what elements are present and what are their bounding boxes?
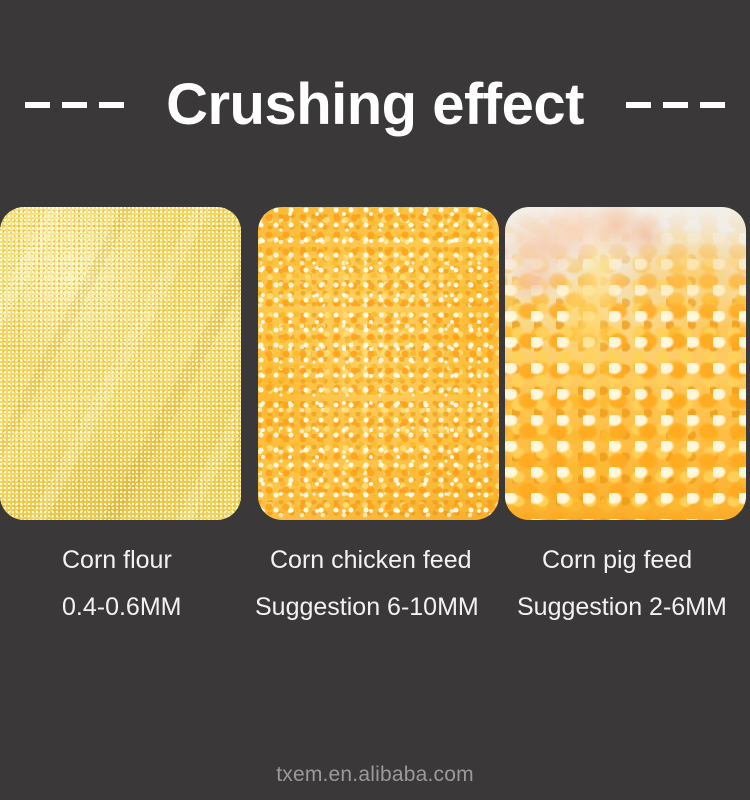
corn-flour-photo: [0, 207, 241, 520]
photo-layer-specks: [258, 207, 499, 520]
caption-spec: 0.4-0.6MM: [62, 595, 181, 620]
caption-title: Corn flour: [62, 548, 181, 573]
dash-icon: [700, 102, 725, 108]
caption-spec: Suggestion 6-10MM: [255, 595, 479, 620]
title-dashes-right: [626, 102, 725, 108]
caption-row: Corn flour 0.4-0.6MM Corn chicken feed S…: [0, 548, 750, 648]
product-image-row: [0, 207, 750, 520]
corn-chicken-feed-photo: [258, 207, 499, 520]
dash-icon: [62, 102, 87, 108]
page-title: Crushing effect: [166, 76, 584, 134]
dash-icon: [663, 102, 688, 108]
dash-icon: [626, 102, 651, 108]
caption-corn-chicken-feed: Corn chicken feed Suggestion 6-10MM: [270, 548, 479, 620]
photo-layer-grain: [0, 207, 241, 520]
title-dashes-left: [25, 102, 124, 108]
corn-pig-feed-photo: [505, 207, 746, 520]
caption-title: Corn chicken feed: [270, 548, 479, 573]
page-header: Crushing effect: [0, 60, 750, 150]
caption-corn-pig-feed: Corn pig feed Suggestion 2-6MM: [542, 548, 727, 620]
dash-icon: [25, 102, 50, 108]
dash-icon: [99, 102, 124, 108]
caption-spec: Suggestion 2-6MM: [517, 595, 727, 620]
caption-corn-flour: Corn flour 0.4-0.6MM: [62, 548, 181, 620]
watermark: txem.en.alibaba.com: [0, 762, 750, 787]
photo-layer-hand: [505, 207, 746, 520]
caption-title: Corn pig feed: [542, 548, 727, 573]
